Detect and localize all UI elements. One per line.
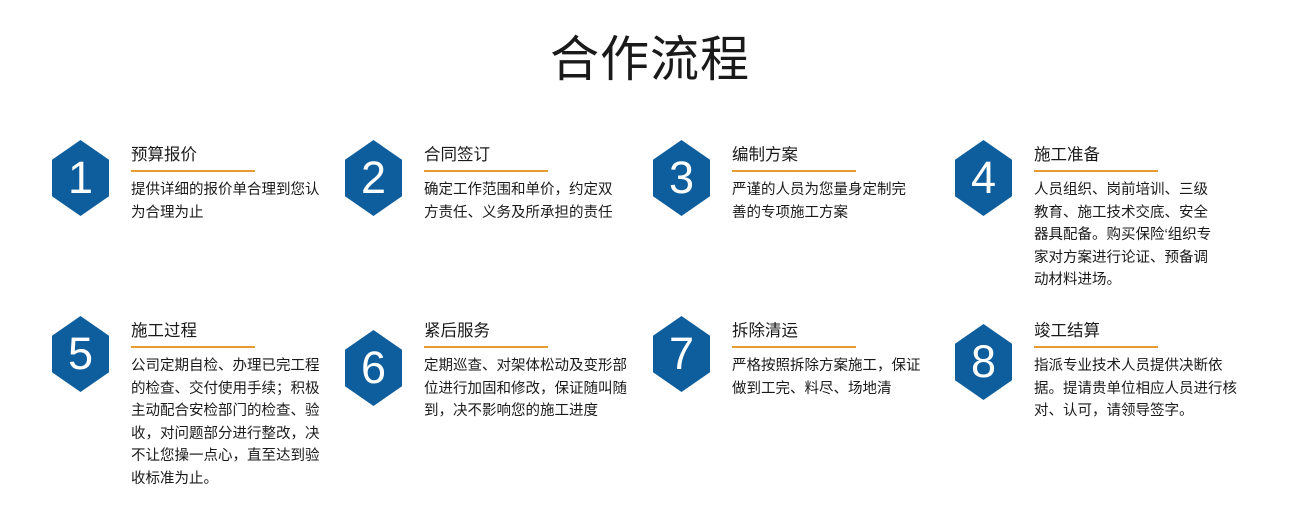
step-description: 人员组织、岗前培训、三级教育、施工技术交底、安全器具配备。购买保险‘组织专家对方… [1034,179,1220,292]
process-step-5[interactable]: 5施工过程公司定期自检、办理已完工程的检查、交付使用手续；积极主动配合安检部门的… [52,316,327,490]
step-number-label: 3 [669,155,694,200]
process-step-1[interactable]: 1预算报价提供详细的报价单合理到您认为合理为止 [52,140,327,224]
process-step-6[interactable]: 6紧后服务定期巡查、对架体松动及变形部位进行加固和修改，保证随叫随到，决不影响您… [345,316,632,423]
step-title: 合同签订 [424,144,624,166]
process-steps-container: 1预算报价提供详细的报价单合理到您认为合理为止2合同签订确定工作范围和单价，约定… [0,128,1300,528]
step-body: 竣工结算指派专业技术人员提供决断依据。提请贵单位相应人员进行核对、认可，请领导签… [1034,316,1246,423]
step-number-hexagon-icon: 7 [653,316,710,392]
step-body: 预算报价提供详细的报价单合理到您认为合理为止 [131,140,327,224]
step-title-underline [131,170,255,172]
step-title: 拆除清运 [732,320,932,342]
step-body: 编制方案严谨的人员为您量身定制完善的专项施工方案 [732,140,912,224]
process-step-7[interactable]: 7拆除清运严格按照拆除方案施工，保证做到工完、料尽、场地清 [653,316,932,400]
step-number-label: 5 [68,331,93,376]
step-title-underline [1034,346,1158,348]
step-number-hexagon-icon: 5 [52,316,109,392]
step-description: 指派专业技术人员提供决断依据。提请贵单位相应人员进行核对、认可，请领导签字。 [1034,355,1246,423]
step-body: 紧后服务定期巡查、对架体松动及变形部位进行加固和修改，保证随叫随到，决不影响您的… [424,316,632,423]
page-title: 合作流程 [0,28,1300,92]
step-description: 严谨的人员为您量身定制完善的专项施工方案 [732,179,912,224]
step-title: 紧后服务 [424,320,632,342]
step-title: 竣工结算 [1034,320,1246,342]
step-title-underline [1034,170,1158,172]
step-body: 施工过程公司定期自检、办理已完工程的检查、交付使用手续；积极主动配合安检部门的检… [131,316,327,490]
step-description: 确定工作范围和单价，约定双方责任、义务及所承担的责任 [424,179,624,224]
step-number-hexagon-icon: 8 [955,324,1012,400]
step-description: 定期巡查、对架体松动及变形部位进行加固和修改，保证随叫随到，决不影响您的施工进度 [424,355,632,423]
process-step-2[interactable]: 2合同签订确定工作范围和单价，约定双方责任、义务及所承担的责任 [345,140,624,224]
step-number-label: 7 [669,331,694,376]
step-number-hexagon-icon: 6 [345,330,402,406]
step-number-hexagon-icon: 3 [653,140,710,216]
step-number-label: 6 [361,345,386,390]
step-number-label: 8 [971,339,996,384]
step-title-underline [424,170,548,172]
step-title-underline [732,170,856,172]
step-title: 编制方案 [732,144,912,166]
process-step-4[interactable]: 4施工准备人员组织、岗前培训、三级教育、施工技术交底、安全器具配备。购买保险‘组… [955,140,1220,292]
step-title: 施工过程 [131,320,327,342]
step-body: 施工准备人员组织、岗前培训、三级教育、施工技术交底、安全器具配备。购买保险‘组织… [1034,140,1220,292]
step-number-hexagon-icon: 1 [52,140,109,216]
step-number-label: 1 [68,155,93,200]
step-body: 合同签订确定工作范围和单价，约定双方责任、义务及所承担的责任 [424,140,624,224]
step-title-underline [732,346,856,348]
step-title-underline [131,346,255,348]
step-description: 提供详细的报价单合理到您认为合理为止 [131,179,327,224]
step-body: 拆除清运严格按照拆除方案施工，保证做到工完、料尽、场地清 [732,316,932,400]
step-title: 施工准备 [1034,144,1220,166]
process-step-8[interactable]: 8竣工结算指派专业技术人员提供决断依据。提请贵单位相应人员进行核对、认可，请领导… [955,316,1246,423]
step-description: 严格按照拆除方案施工，保证做到工完、料尽、场地清 [732,355,932,400]
step-title-underline [424,346,548,348]
step-number-label: 2 [361,155,386,200]
step-number-hexagon-icon: 4 [955,140,1012,216]
step-description: 公司定期自检、办理已完工程的检查、交付使用手续；积极主动配合安检部门的检查、验收… [131,355,327,490]
step-number-hexagon-icon: 2 [345,140,402,216]
process-step-3[interactable]: 3编制方案严谨的人员为您量身定制完善的专项施工方案 [653,140,912,224]
step-number-label: 4 [971,155,996,200]
step-title: 预算报价 [131,144,327,166]
